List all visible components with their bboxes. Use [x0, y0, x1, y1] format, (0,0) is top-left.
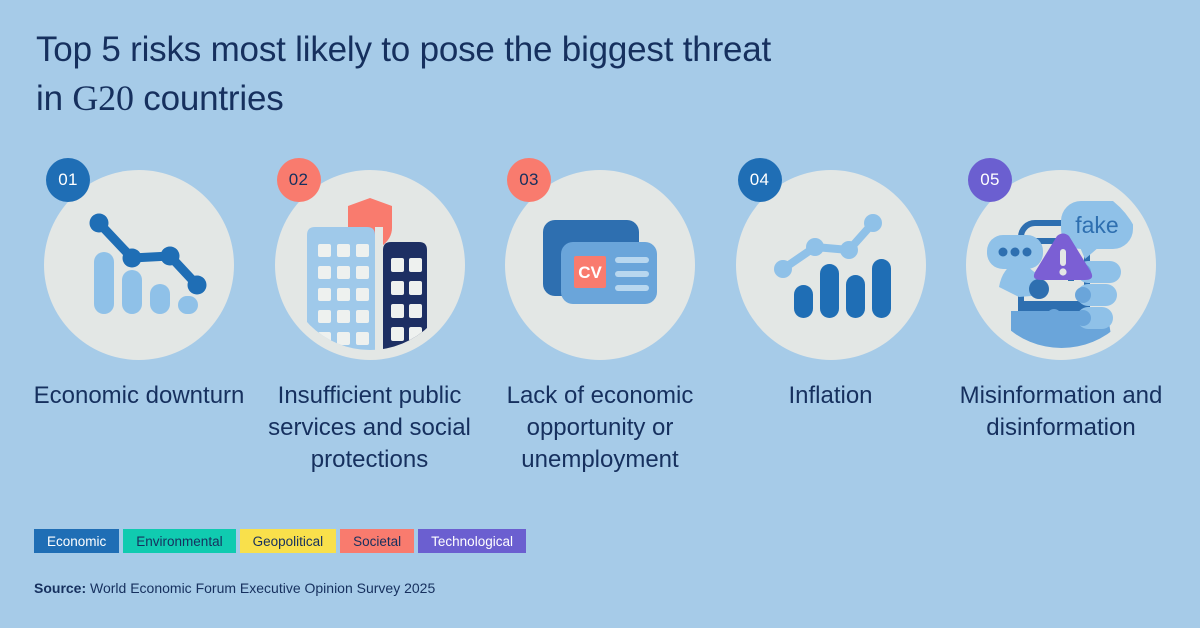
- legend-label-societal: Societal: [353, 534, 401, 549]
- risk-card-2: 02 Insufficient public services and soci…: [261, 150, 479, 476]
- rank-badge-5: 05: [968, 158, 1012, 202]
- legend-item-economic[interactable]: Economic: [34, 529, 119, 553]
- rank-badge-label-2: 02: [289, 170, 309, 190]
- legend-item-societal[interactable]: Societal: [340, 529, 414, 553]
- source-line: Source: World Economic Forum Executive O…: [34, 580, 435, 596]
- category-legend: Economic Environmental Geopolitical Soci…: [34, 529, 526, 553]
- rank-badge-3: 03: [507, 158, 551, 202]
- source-text: World Economic Forum Executive Opinion S…: [90, 580, 435, 596]
- risk-icon-wrap-3: CV 03: [491, 150, 709, 365]
- rank-badge-2: 02: [277, 158, 321, 202]
- page-title-line-2-prefix: in: [36, 79, 72, 118]
- rank-badge-label-3: 03: [519, 170, 539, 190]
- page-title: Top 5 risks most likely to pose the bigg…: [36, 26, 1036, 123]
- rank-badge-label-5: 05: [980, 170, 1000, 190]
- legend-label-geopolitical: Geopolitical: [253, 534, 324, 549]
- legend-label-technological: Technological: [431, 534, 513, 549]
- rank-badge-1: 01: [46, 158, 90, 202]
- risk-icon-wrap-5: fake: [952, 150, 1170, 365]
- page-title-line-1: Top 5 risks most likely to pose the bigg…: [36, 30, 771, 69]
- risk-label-1: Economic downturn: [33, 380, 245, 412]
- rank-badge-4: 04: [738, 158, 782, 202]
- risk-label-5: Misinformation and disinformation: [955, 380, 1167, 444]
- legend-item-technological[interactable]: Technological: [418, 529, 526, 553]
- risk-card-4: 04 Inflation: [722, 150, 940, 412]
- risk-card-5: fake: [952, 150, 1170, 444]
- risk-label-2: Insufficient public services and social …: [264, 380, 476, 476]
- risk-cards-row: 01 Economic downturn: [30, 150, 1170, 476]
- risk-label-3: Lack of economic opportunity or unemploy…: [494, 380, 706, 476]
- page-title-g20: G20: [72, 78, 133, 118]
- legend-item-environmental[interactable]: Environmental: [123, 529, 235, 553]
- legend-item-geopolitical[interactable]: Geopolitical: [240, 529, 337, 553]
- risk-card-3: CV 03 Lack of economic opportunity or un…: [491, 150, 709, 476]
- risk-icon-wrap-2: 02: [261, 150, 479, 365]
- risk-icon-wrap-1: 01: [30, 150, 248, 365]
- rank-badge-label-1: 01: [58, 170, 78, 190]
- risk-label-4: Inflation: [725, 380, 937, 412]
- cv-label: CV: [578, 263, 602, 282]
- legend-label-economic: Economic: [47, 534, 106, 549]
- source-prefix: Source:: [34, 580, 86, 596]
- rank-badge-label-4: 04: [750, 170, 770, 190]
- page-title-line-2-suffix: countries: [134, 79, 284, 118]
- risk-card-1: 01 Economic downturn: [30, 150, 248, 412]
- risk-icon-wrap-4: 04: [722, 150, 940, 365]
- fake-label: fake: [1075, 212, 1118, 238]
- legend-label-environmental: Environmental: [136, 534, 222, 549]
